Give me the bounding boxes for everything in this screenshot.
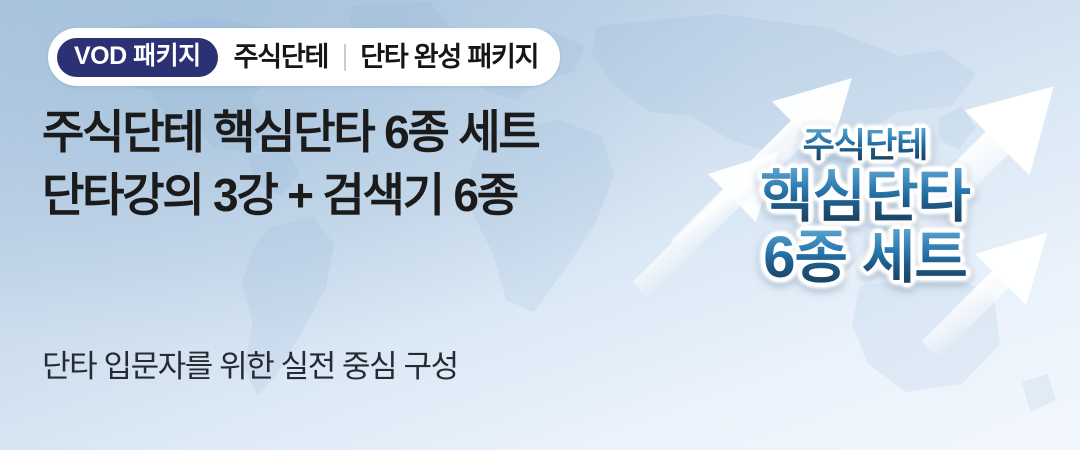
- headline-line-1: 주식단테 핵심단타 6종 세트: [42, 101, 538, 164]
- headline-line-2: 단타강의 3강 + 검색기 6종: [42, 164, 538, 227]
- pill-subtitle: 단타 완성 패키지: [360, 44, 538, 71]
- pill-divider-icon: [344, 44, 346, 71]
- art-text-line-1: 주식단테: [700, 128, 1030, 163]
- course-type-pill: VOD 패키지 주식단테 단타 완성 패키지: [48, 28, 560, 86]
- art-text-line-2: 핵심단타: [700, 168, 1030, 226]
- pill-title: 주식단테: [234, 44, 329, 71]
- banner-subtitle: 단타 입문자를 위한 실전 중심 구성: [42, 348, 458, 385]
- art-text-block: 주식단테 핵심단타 6종 세트: [700, 128, 1030, 287]
- vod-package-badge: VOD 패키지: [57, 38, 218, 77]
- promo-banner: VOD 패키지 주식단테 단타 완성 패키지 주식단테 핵심단타 6종 세트 단…: [0, 0, 1080, 450]
- art-text-line-3: 6종 세트: [700, 229, 1030, 287]
- headline: 주식단테 핵심단타 6종 세트 단타강의 3강 + 검색기 6종: [42, 101, 538, 228]
